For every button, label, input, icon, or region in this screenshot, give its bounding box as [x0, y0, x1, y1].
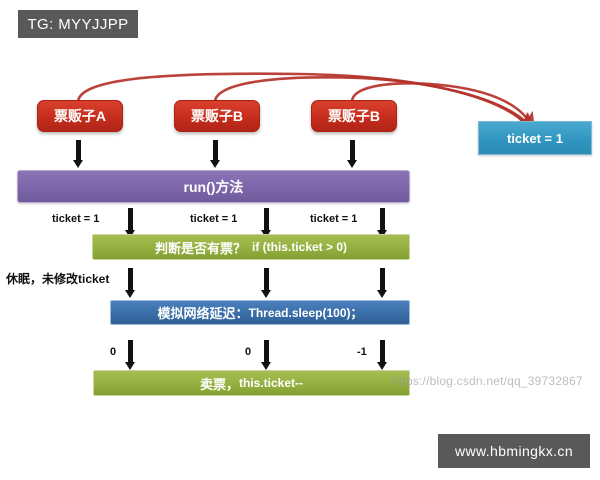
arrow-dealer-a-to-run: [73, 140, 83, 168]
sleep-label-code: Thread.sleep(100)；: [248, 304, 362, 321]
blog-url-watermark: https://blog.csdn.net/qq_39732867: [392, 374, 583, 388]
sell-ticket-bar[interactable]: 卖票， this.ticket--: [93, 370, 410, 396]
arrow-condition-3-to-sleep: [377, 268, 387, 298]
shared-ticket-box[interactable]: ticket = 1: [478, 121, 592, 155]
curve-dealer-a-to-ticket: [78, 74, 528, 126]
result-label-1: 0: [110, 346, 116, 358]
network-delay-bar[interactable]: 模拟网络延迟： Thread.sleep(100)；: [110, 300, 410, 325]
arrow-condition-2-to-sleep: [261, 268, 271, 298]
condition-check-bar[interactable]: 判断是否有票？ if (this.ticket > 0): [92, 234, 410, 260]
arrow-dealer-b1-to-run: [210, 140, 220, 168]
sleep-label-cjk: 模拟网络延迟：: [157, 303, 248, 322]
result-label-2: 0: [245, 346, 251, 358]
sleep-note-label: 休眠，未修改ticket: [6, 270, 109, 287]
diagram-canvas: 票贩子A 票贩子B 票贩子B ticket = 1 run()方法 ticket…: [0, 0, 600, 480]
arrow-condition-1-to-sleep: [125, 268, 135, 298]
read-label-1: ticket = 1: [52, 213, 99, 225]
arrow-sleep-2-to-sell: [261, 340, 271, 370]
sell-label-cjk: 卖票，: [200, 374, 239, 393]
run-method-bar[interactable]: run()方法: [17, 170, 410, 203]
read-label-2: ticket = 1: [190, 213, 237, 225]
read-label-3: ticket = 1: [310, 213, 357, 225]
tg-tag-watermark: TG: MYYJJPP: [18, 10, 138, 38]
dealer-box-b1[interactable]: 票贩子B: [174, 100, 260, 132]
dealer-box-b2[interactable]: 票贩子B: [311, 100, 397, 132]
result-label-3: -1: [357, 346, 367, 358]
site-watermark: www.hbmingkx.cn: [438, 434, 590, 468]
arrow-sleep-3-to-sell: [377, 340, 387, 370]
condition-label-code: if (this.ticket > 0): [252, 240, 347, 254]
condition-label-cjk: 判断是否有票？: [155, 238, 246, 257]
sell-label-code: this.ticket--: [239, 376, 303, 390]
arrow-dealer-b2-to-run: [347, 140, 357, 168]
arrow-sleep-1-to-sell: [125, 340, 135, 370]
dealer-box-a[interactable]: 票贩子A: [37, 100, 123, 132]
